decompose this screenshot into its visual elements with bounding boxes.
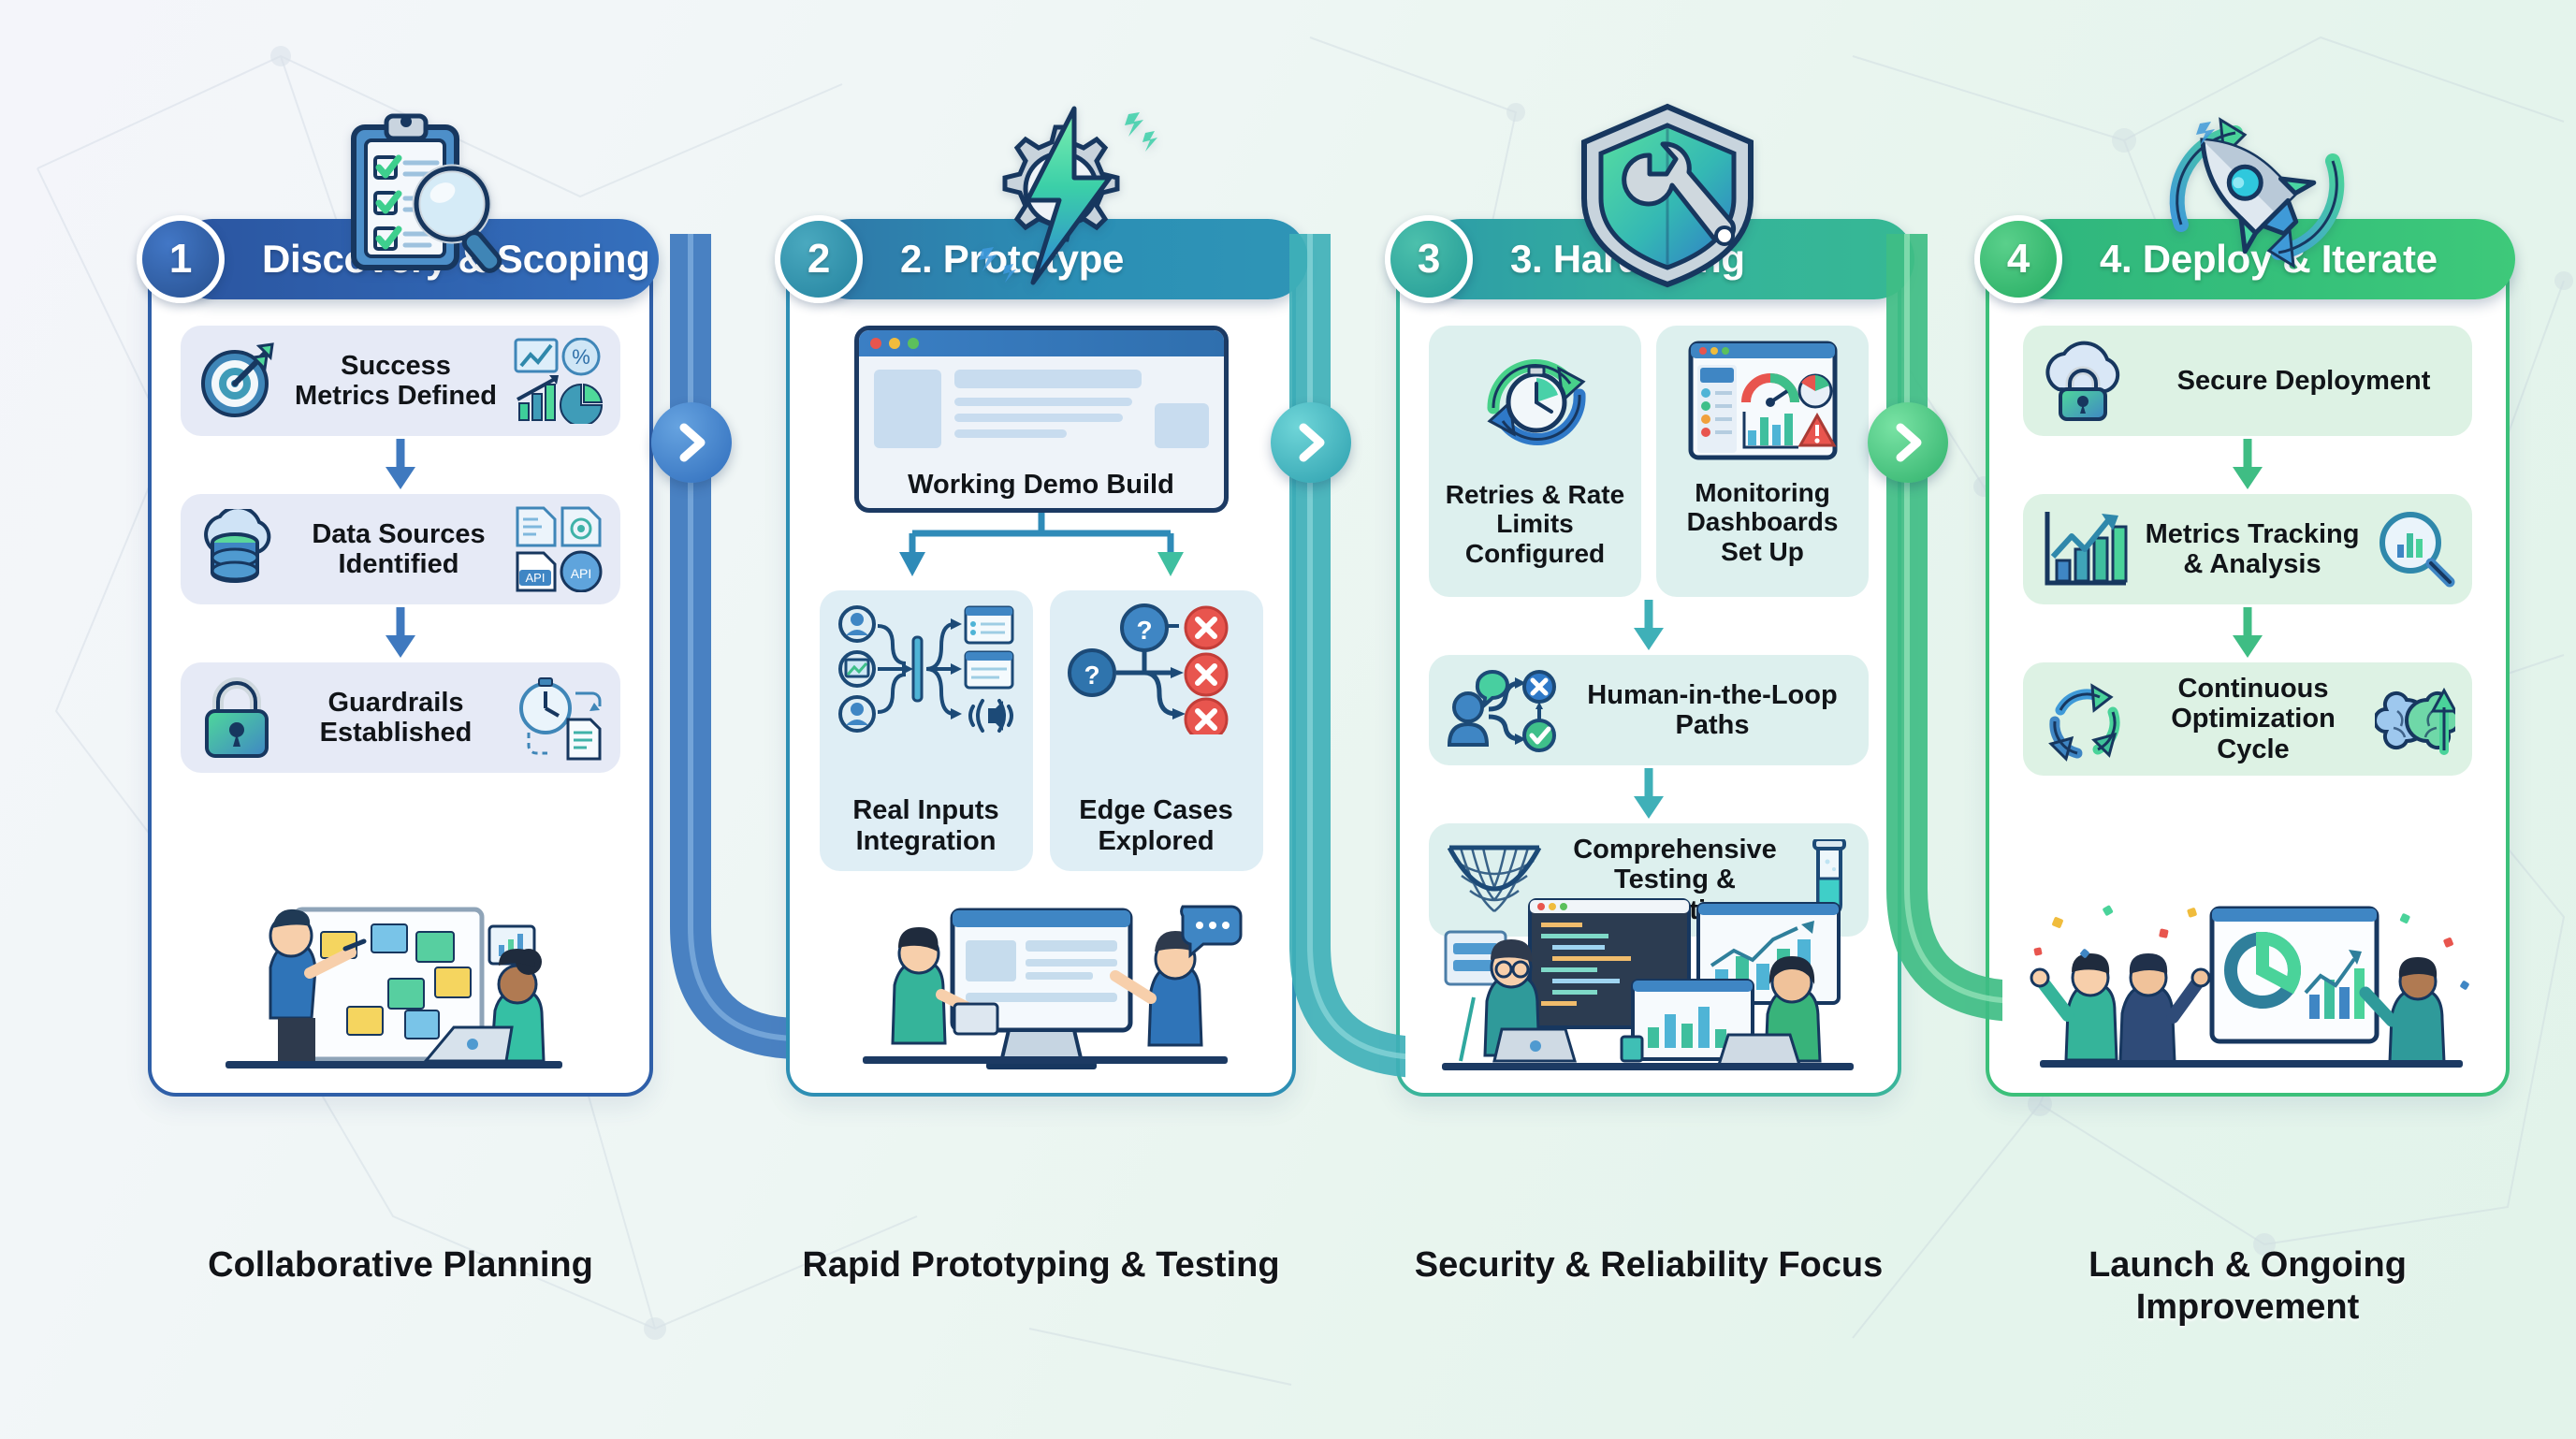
flow-arrow (382, 436, 419, 494)
traffic-light-green (908, 338, 919, 349)
connector-3-4 (1853, 234, 2002, 1226)
step-chip-continuous-optimization[interactable]: Continuous Optimization Cycle (2023, 662, 2472, 776)
panel-deploy-iterate: 4 4. Deploy & Iterate (1948, 0, 2566, 1439)
step-label: Secure Deployment (2152, 366, 2455, 396)
step-label: Success Metrics Defined (293, 351, 499, 412)
browser-titlebar (859, 330, 1224, 356)
magnifier-chart-icon (2375, 509, 2455, 589)
cloud-database-icon (197, 509, 284, 589)
flow-arrow (2229, 436, 2266, 494)
step-label: Continuous Optimization Cycle (2147, 674, 2360, 764)
team-celebrating-results-illustration (2014, 887, 2481, 1083)
branch-label: Real Inputs Integration (829, 795, 1024, 856)
connector-chevron-3-4[interactable] (1868, 402, 1948, 483)
tile-label: Monitoring Dashboards Set Up (1666, 478, 1859, 566)
panel-caption-3: Security & Reliability Focus (1396, 1244, 1901, 1286)
circular-arrows-icon (2040, 676, 2132, 763)
step-chip-success-metrics[interactable]: Success Metrics Defined % (181, 326, 620, 436)
step-label: Data Sources Identified (298, 519, 499, 580)
target-arrow-icon (197, 341, 278, 421)
flow-arrow (1630, 597, 1667, 655)
clipboard-checklist-magnifier-icon (302, 101, 536, 288)
designers-reviewing-screen-illustration (808, 887, 1275, 1083)
card-discovery-scoping: 1 Discovery & Scoping (148, 254, 653, 1097)
step-chip-human-in-the-loop[interactable]: Human-in-the-Loop Paths (1429, 655, 1869, 765)
connector-chevron-2-3[interactable] (1271, 402, 1351, 483)
wireframe-skeleton (859, 356, 1224, 461)
step-label: Human-in-the-Loop Paths (1573, 680, 1852, 741)
stopwatch-policy-doc-icon (514, 675, 604, 761)
panel-caption-4: Launch & Ongoing Improvement (1986, 1244, 2510, 1329)
step-label: Guardrails Established (293, 688, 499, 749)
branch-arrows (845, 513, 1238, 585)
edge-case-failure-tree-icon: ? ? (1068, 603, 1245, 739)
branch-real-inputs[interactable]: Real Inputs Integration (820, 590, 1033, 871)
branch-edge-cases[interactable]: ? ? (1050, 590, 1263, 871)
connector-chevron-1-2[interactable] (651, 402, 732, 483)
demo-label: Working Demo Build (859, 470, 1224, 501)
tile-label: Retries & Rate Limits Configured (1438, 480, 1632, 568)
browser-window-icon: Working Demo Build (854, 326, 1229, 513)
svg-text:?: ? (1136, 616, 1152, 645)
growth-bar-chart-icon (2040, 508, 2130, 590)
infographic-canvas: 1 Discovery & Scoping (0, 0, 2576, 1439)
api-documents-icon: API API (514, 506, 604, 592)
step-number-badge-2: 2 (775, 215, 863, 303)
traffic-light-red (870, 338, 881, 349)
step-label: Metrics Tracking & Analysis (2145, 519, 2360, 580)
card-prototype: 2 2. Prototype (786, 254, 1296, 1097)
svg-text:?: ? (1084, 661, 1099, 690)
flow-arrow (2229, 604, 2266, 662)
branch-label: Edge Cases Explored (1059, 795, 1254, 856)
connector-1-2 (636, 234, 786, 1226)
retry-cycle-stopwatch-icon (1465, 341, 1606, 467)
connector-2-3 (1256, 234, 1405, 1226)
monitoring-dashboard-icon (1688, 341, 1838, 465)
gear-lightning-bolt-icon (940, 101, 1174, 288)
card-hardening: 3 3. Hardening (1396, 254, 1901, 1097)
step-chip-secure-deployment[interactable]: Secure Deployment (2023, 326, 2472, 436)
human-review-branch-icon (1446, 668, 1558, 752)
flow-arrow (382, 604, 419, 662)
step-number-badge-1: 1 (137, 215, 225, 303)
brain-growth-arrow-icon (2375, 679, 2455, 760)
tile-monitoring-dashboards[interactable]: Monitoring Dashboards Set Up (1656, 326, 1869, 597)
svg-text:API: API (526, 571, 546, 585)
tile-retries-rate-limits[interactable]: Retries & Rate Limits Configured (1429, 326, 1641, 597)
team-whiteboard-planning-illustration (167, 887, 634, 1083)
panel-caption-1: Collaborative Planning (148, 1244, 653, 1286)
card-deploy-iterate: 4 4. Deploy & Iterate (1986, 254, 2510, 1097)
step-chip-guardrails[interactable]: Guardrails Established (181, 662, 620, 773)
cloud-padlock-icon (2040, 341, 2137, 421)
svg-text:API: API (571, 566, 592, 581)
padlock-icon (197, 676, 278, 760)
rocket-refresh-arrows-icon (2140, 101, 2374, 288)
shield-wrench-icon (1550, 101, 1784, 288)
step-chip-data-sources[interactable]: Data Sources Identified API (181, 494, 620, 604)
step-chip-metrics-tracking[interactable]: Metrics Tracking & Analysis (2023, 494, 2472, 604)
analytics-charts-icon: % (514, 338, 604, 424)
flow-arrow (1630, 765, 1667, 823)
panel-caption-2: Rapid Prototyping & Testing (786, 1244, 1296, 1286)
panel-discovery-scoping: 1 Discovery & Scoping (110, 0, 728, 1439)
multi-input-pipeline-icon (833, 603, 1020, 739)
engineers-coding-dashboards-illustration (1415, 887, 1883, 1083)
svg-text:%: % (572, 345, 590, 369)
traffic-light-yellow (889, 338, 900, 349)
